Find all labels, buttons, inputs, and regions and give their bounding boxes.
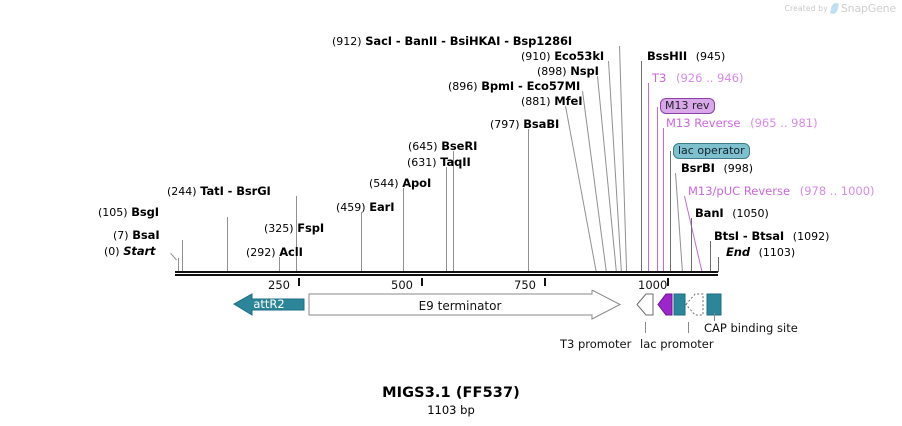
enzyme-label-bsshii[interactable]: BssHII (945)	[647, 50, 725, 63]
feature-shape-lac-operator[interactable]	[674, 294, 685, 315]
enzyme-label-acli[interactable]: (292) AclI	[246, 246, 303, 259]
backbone-inner-line	[175, 273, 718, 274]
enzyme-name: End	[726, 245, 750, 259]
enzyme-position: (631)	[407, 156, 437, 169]
feature-callout-cap-binding-site[interactable]: CAP binding site	[704, 321, 798, 335]
enzyme-position: (797)	[490, 118, 520, 131]
enzyme-label-bsrbi[interactable]: BsrBI (998)	[681, 162, 753, 175]
enzyme-position: (105)	[98, 206, 128, 219]
feature-inline-label-attr2: attR2	[234, 297, 304, 311]
enzyme-position: (1092)	[793, 230, 830, 243]
primer-range: (965 .. 981)	[750, 116, 818, 130]
enzyme-label-nspi[interactable]: (898) NspI	[537, 65, 599, 78]
enzyme-name: BpmI - Eco57MI	[481, 79, 580, 93]
enzyme-position: (645)	[408, 140, 438, 153]
enzyme-label-bsabi[interactable]: (797) BsaBI	[490, 118, 559, 131]
enzyme-position: (544)	[369, 177, 399, 190]
watermark-prefix: Created by	[785, 4, 828, 13]
enzyme-name: MfeI	[554, 94, 582, 108]
enzyme-name: FspI	[297, 221, 324, 235]
enzyme-position: (898)	[537, 65, 567, 78]
enzyme-name: BtsI - BtsaI	[714, 229, 784, 243]
enzyme-name: BanI	[695, 206, 724, 220]
enzyme-name: TatI - BsrGI	[200, 184, 270, 198]
enzyme-position: (910)	[521, 50, 551, 63]
enzyme-position: (292)	[246, 246, 276, 259]
primer-name: M13/pUC Reverse	[688, 184, 790, 198]
enzyme-position: (998)	[723, 162, 753, 175]
enzyme-label-bseri[interactable]: (645) BseRI	[408, 140, 477, 153]
enzyme-position: (7)	[113, 229, 129, 242]
primer-name: M13 rev	[660, 98, 715, 114]
enzyme-name: BsaBI	[523, 117, 559, 131]
feature-shape-m13-rev[interactable]	[658, 294, 672, 315]
ruler-tick-750	[544, 278, 546, 286]
primer-range: (978 .. 1000)	[800, 184, 875, 198]
enzyme-label-apoi[interactable]: (544) ApoI	[369, 177, 431, 190]
plasmid-length: 1103 bp	[0, 403, 902, 417]
enzyme-label-bsgi[interactable]: (105) BsgI	[98, 206, 159, 219]
primer-label-m13-reverse[interactable]: M13 Reverse (965 .. 981)	[666, 117, 818, 129]
enzyme-label-bani[interactable]: BanI (1050)	[695, 207, 769, 220]
feature-shape-t3-promoter[interactable]	[637, 294, 653, 315]
ruler-tick-1000	[667, 278, 669, 286]
ruler-tick-250	[298, 278, 300, 286]
feature-callout-t3-promoter[interactable]: T3 promoter	[560, 337, 631, 351]
feature-shape-lac-promoter[interactable]	[686, 294, 703, 315]
enzyme-label-eari[interactable]: (459) EarI	[336, 201, 394, 214]
primer-range: (926 .. 946)	[676, 71, 744, 85]
enzyme-name: AclI	[279, 245, 303, 259]
watermark-brand: SnapGene	[841, 2, 896, 15]
enzyme-position: (459)	[336, 201, 366, 214]
enzyme-position: (244)	[167, 185, 197, 198]
enzyme-label-btsi-btsai[interactable]: BtsI - BtsaI (1092)	[714, 230, 829, 243]
primer-name: T3	[652, 71, 666, 85]
primer-label-m13-puc-reverse[interactable]: M13/pUC Reverse (978 .. 1000)	[688, 185, 875, 197]
enzyme-name: NspI	[570, 64, 599, 78]
enzyme-position: (1050)	[732, 207, 769, 220]
enzyme-position: (0)	[104, 245, 120, 258]
feature-callout-lac-promoter[interactable]: lac promoter	[640, 337, 714, 351]
enzyme-name: SacI - BanII - BsiHKAI - Bsp1286I	[365, 34, 572, 48]
enzyme-position: (881)	[521, 95, 551, 108]
enzyme-name: BssHII	[647, 49, 687, 63]
enzyme-position: (945)	[696, 50, 726, 63]
callout-line-cap-binding-site	[714, 313, 715, 321]
enzyme-name: BsaI	[132, 228, 159, 242]
feature-shape-cap-binding-site[interactable]	[707, 294, 721, 315]
enzyme-label-fspi[interactable]: (325) FspI	[264, 222, 324, 235]
enzyme-name: EarI	[369, 200, 394, 214]
snapgene-watermark: Created by SnapGene	[785, 2, 896, 15]
enzyme-label-tati-bsrgi[interactable]: (244) TatI - BsrGI	[167, 185, 271, 198]
sequence-backbone[interactable]	[175, 271, 718, 276]
enzyme-position: (896)	[448, 80, 478, 93]
primer-label-m13-rev[interactable]: M13 rev	[660, 94, 715, 114]
feature-name: lac operator	[673, 143, 750, 159]
enzyme-name: ApoI	[402, 176, 431, 190]
enzyme-name: BsgI	[131, 205, 159, 219]
enzyme-name: TaqII	[440, 155, 470, 169]
snapgene-leaf-icon	[830, 3, 838, 15]
enzyme-name: Eco53kI	[554, 49, 604, 63]
enzyme-label-bsai[interactable]: (7) BsaI	[113, 229, 160, 242]
enzyme-position: (912)	[332, 35, 362, 48]
enzyme-label-saci-group[interactable]: (912) SacI - BanII - BsiHKAI - Bsp1286I	[332, 35, 572, 48]
callout-line-lac-promoter	[688, 322, 689, 333]
feature-label-lac-operator[interactable]: lac operator	[673, 139, 750, 159]
enzyme-name: BseRI	[441, 139, 477, 153]
enzyme-label-mfei[interactable]: (881) MfeI	[521, 95, 582, 108]
enzyme-label-end[interactable]: End (1103)	[726, 246, 795, 259]
primer-label-t3[interactable]: T3 (926 .. 946)	[652, 72, 744, 84]
enzyme-label-bpmi-eco57mi[interactable]: (896) BpmI - Eco57MI	[448, 80, 580, 93]
primer-name: M13 Reverse	[666, 116, 740, 130]
enzyme-position: (325)	[264, 222, 294, 235]
plasmid-title: MIGS3.1 (FF537)	[0, 385, 902, 401]
callout-line-t3-promoter	[645, 322, 646, 333]
enzyme-position: (1103)	[759, 246, 796, 259]
enzyme-name: BsrBI	[681, 161, 715, 175]
enzyme-label-taqii[interactable]: (631) TaqII	[407, 156, 471, 169]
feature-inline-label-e9-terminator: E9 terminator	[320, 299, 600, 313]
enzyme-label-eco53ki[interactable]: (910) Eco53kI	[521, 50, 604, 63]
ruler-tick-500	[421, 278, 423, 286]
enzyme-label-start[interactable]: (0) Start	[104, 245, 155, 258]
enzyme-name: Start	[123, 244, 155, 258]
